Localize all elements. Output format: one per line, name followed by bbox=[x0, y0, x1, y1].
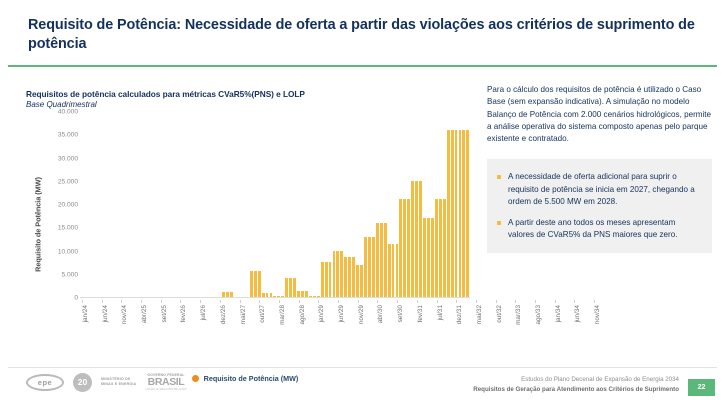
page-number-badge: 22 bbox=[688, 379, 715, 396]
bar bbox=[270, 293, 273, 297]
bar bbox=[333, 251, 336, 298]
bar bbox=[419, 181, 422, 297]
bar bbox=[368, 237, 371, 297]
bar bbox=[313, 296, 316, 297]
x-axis-tick-label: nov/29 bbox=[358, 305, 365, 324]
bar bbox=[392, 244, 395, 297]
x-axis-tick-label: abr/30 bbox=[377, 305, 384, 323]
bar bbox=[285, 278, 288, 297]
x-axis-tick-mark bbox=[515, 300, 516, 303]
bar bbox=[305, 291, 308, 297]
y-axis-tick-label: 15.000 bbox=[32, 225, 78, 232]
x-axis-tick-label: jan/34 bbox=[555, 305, 562, 322]
footer-logos: epe 20 MINISTÉRIO DE MINAS E ENERGIA GOV… bbox=[26, 368, 187, 396]
x-axis-tick-mark bbox=[456, 300, 457, 303]
x-axis-tick-label: set/30 bbox=[397, 305, 404, 322]
x-axis-tick-mark bbox=[279, 300, 280, 303]
x-axis-tick-mark bbox=[555, 300, 556, 303]
epe-logo-icon: epe bbox=[26, 374, 64, 391]
x-axis-tick-label: jan/24 bbox=[82, 305, 89, 322]
x-axis-tick-label: set/25 bbox=[161, 305, 168, 322]
x-axis-tick-label: jun/24 bbox=[102, 305, 109, 322]
y-axis-tick-label: 0 bbox=[32, 295, 78, 302]
bar bbox=[435, 199, 438, 297]
bar bbox=[356, 265, 359, 297]
x-axis-tick-mark bbox=[240, 300, 241, 303]
bar bbox=[447, 130, 450, 297]
x-axis-tick-label: abr/25 bbox=[141, 305, 148, 323]
footer-caption: Estudos do Plano Decenal de Expansão de … bbox=[473, 375, 679, 395]
footer-line-2: Requisitos de Geração para Atendimento a… bbox=[473, 385, 679, 395]
bar bbox=[399, 199, 402, 297]
bar bbox=[262, 293, 265, 297]
bar bbox=[293, 278, 296, 297]
bar bbox=[230, 292, 233, 297]
y-axis-tick-label: 40.000 bbox=[32, 109, 78, 116]
gov-brasil-logo-icon: GOVERNO FEDERAL BRASIL UNIÃO E RECONSTRU… bbox=[145, 371, 186, 393]
list-item: A necessidade de oferta adicional para s… bbox=[497, 171, 700, 207]
x-axis-tick-label: mai/27 bbox=[240, 305, 247, 324]
bar bbox=[340, 251, 343, 298]
bar bbox=[439, 199, 442, 297]
bar bbox=[297, 291, 300, 297]
anniversary-logo-icon: 20 bbox=[73, 373, 92, 392]
x-axis-tick-mark bbox=[437, 300, 438, 303]
x-axis-tick-label: mai/32 bbox=[476, 305, 483, 324]
x-axis-tick-label: jul/26 bbox=[200, 305, 207, 320]
bar-series bbox=[80, 111, 470, 297]
legend-label: Requisito de Potência (MW) bbox=[204, 374, 299, 383]
slide-header: Requisito de Potência: Necessidade de of… bbox=[28, 16, 696, 54]
bar bbox=[348, 257, 351, 297]
side-highlight-box: A necessidade de oferta adicional para s… bbox=[487, 159, 712, 253]
ministry-logo-icon: MINISTÉRIO DE MINAS E ENERGIA bbox=[101, 372, 136, 392]
bar bbox=[309, 296, 312, 297]
side-paragraph: Para o cálculo dos requisitos de potênci… bbox=[487, 84, 712, 145]
x-axis-tick-mark bbox=[299, 300, 300, 303]
bar bbox=[344, 257, 347, 297]
bar bbox=[289, 278, 292, 297]
list-item: A partir deste ano todos os meses aprese… bbox=[497, 217, 700, 241]
y-axis-tick-label: 20.000 bbox=[32, 202, 78, 209]
x-axis-tick-mark bbox=[358, 300, 359, 303]
bar bbox=[466, 130, 469, 297]
bar bbox=[352, 257, 355, 297]
bar bbox=[281, 296, 284, 297]
x-axis-tick-mark bbox=[496, 300, 497, 303]
x-axis-tick-label: ago/33 bbox=[535, 305, 542, 325]
bar bbox=[411, 181, 414, 297]
x-axis-tick-label: nov/24 bbox=[121, 305, 128, 324]
x-axis-tick-mark bbox=[377, 300, 378, 303]
bar bbox=[364, 237, 367, 297]
x-axis-tick-label: jan/29 bbox=[318, 305, 325, 322]
bar bbox=[273, 296, 276, 297]
bar bbox=[222, 292, 225, 297]
x-axis-tick-mark bbox=[259, 300, 260, 303]
bar bbox=[250, 271, 253, 297]
x-axis-tick-mark bbox=[102, 300, 103, 303]
bar bbox=[317, 296, 320, 297]
x-axis-tick-label: ago/28 bbox=[299, 305, 306, 325]
y-axis-tick-label: 10.000 bbox=[32, 248, 78, 255]
brasil-label: BRASIL bbox=[148, 377, 185, 388]
ministry-line-2: MINAS E ENERGIA bbox=[101, 382, 136, 387]
x-axis-tick-label: dez/31 bbox=[456, 305, 463, 324]
bars-plot bbox=[80, 112, 470, 298]
chart-title: Requisitos de potência calculados para m… bbox=[26, 89, 305, 99]
slide-left-edge bbox=[0, 0, 6, 400]
bar bbox=[266, 293, 269, 297]
bar bbox=[407, 199, 410, 297]
slide-root: Requisito de Potência: Necessidade de of… bbox=[0, 0, 725, 400]
bar bbox=[403, 199, 406, 297]
x-axis-tick-mark bbox=[180, 300, 181, 303]
bullet-text: A partir deste ano todos os meses aprese… bbox=[508, 217, 700, 241]
x-axis-tick-mark bbox=[318, 300, 319, 303]
x-axis-tick-mark bbox=[397, 300, 398, 303]
x-axis-tick-mark bbox=[417, 300, 418, 303]
y-axis-ticks: 05.00010.00015.00020.00025.00030.00035.0… bbox=[32, 112, 78, 298]
bar bbox=[372, 237, 375, 297]
x-axis-tick-label: nov/34 bbox=[594, 305, 601, 324]
x-axis-tick-label: mar/33 bbox=[515, 305, 522, 325]
x-axis-tick-label: jul/31 bbox=[437, 305, 444, 320]
bar bbox=[277, 296, 280, 297]
page-title: Requisito de Potência: Necessidade de of… bbox=[28, 16, 696, 54]
x-axis-tick-mark bbox=[220, 300, 221, 303]
bar bbox=[396, 244, 399, 297]
x-axis-tick-mark bbox=[161, 300, 162, 303]
bar bbox=[360, 265, 363, 297]
gov-sublabel: UNIÃO E RECONSTRUÇÃO bbox=[145, 387, 186, 391]
bar bbox=[415, 181, 418, 297]
x-axis-tick-label: mar/28 bbox=[279, 305, 286, 325]
x-axis-tick-label: out/27 bbox=[259, 305, 266, 323]
bar bbox=[384, 223, 387, 297]
bullet-text: A necessidade de oferta adicional para s… bbox=[508, 171, 700, 207]
bar bbox=[380, 223, 383, 297]
bar bbox=[443, 199, 446, 297]
bar bbox=[376, 223, 379, 297]
bar bbox=[329, 262, 332, 297]
x-axis-ticks: jan/24jun/24nov/24abr/25set/25fev/26jul/… bbox=[80, 300, 470, 356]
x-axis-tick-mark bbox=[121, 300, 122, 303]
legend-marker-icon bbox=[192, 375, 199, 382]
footer-line-1: Estudos do Plano Decenal de Expansão de … bbox=[473, 375, 679, 385]
x-axis-tick-mark bbox=[535, 300, 536, 303]
bar bbox=[336, 251, 339, 298]
bar bbox=[301, 291, 304, 297]
bar bbox=[226, 292, 229, 297]
x-axis-tick-mark bbox=[338, 300, 339, 303]
x-axis-tick-mark bbox=[574, 300, 575, 303]
x-axis-tick-mark bbox=[200, 300, 201, 303]
bar bbox=[455, 130, 458, 297]
bar bbox=[325, 262, 328, 297]
side-column: Para o cálculo dos requisitos de potênci… bbox=[487, 84, 712, 253]
y-axis-tick-label: 35.000 bbox=[32, 132, 78, 139]
chart-plot-area: Requisito de Potência (MW) 05.00010.0001… bbox=[12, 112, 478, 362]
bar bbox=[321, 262, 324, 297]
x-axis-tick-label: fev/26 bbox=[180, 305, 187, 322]
chart-panel: Requisitos de potência calculados para m… bbox=[12, 78, 478, 363]
bar bbox=[427, 218, 430, 297]
x-axis-tick-mark bbox=[82, 300, 83, 303]
x-axis-tick-mark bbox=[594, 300, 595, 303]
bar bbox=[254, 271, 257, 297]
x-axis-tick-label: jun/34 bbox=[574, 305, 581, 322]
bar bbox=[423, 218, 426, 297]
x-axis-tick-label: dez/26 bbox=[220, 305, 227, 324]
bar bbox=[388, 244, 391, 297]
y-axis-tick-label: 5.000 bbox=[32, 271, 78, 278]
y-axis-tick-label: 25.000 bbox=[32, 178, 78, 185]
bullet-square-icon bbox=[497, 175, 501, 179]
slide-right-edge bbox=[715, 0, 725, 400]
x-axis-tick-label: jun/29 bbox=[338, 305, 345, 322]
x-axis-tick-mark bbox=[476, 300, 477, 303]
bar bbox=[451, 130, 454, 297]
x-axis-tick-label: out/32 bbox=[496, 305, 503, 323]
bar bbox=[462, 130, 465, 297]
bar bbox=[258, 271, 261, 297]
y-axis-tick-label: 30.000 bbox=[32, 155, 78, 162]
title-divider bbox=[8, 65, 717, 67]
x-axis-tick-mark bbox=[141, 300, 142, 303]
x-axis-tick-label: fev/31 bbox=[417, 305, 424, 322]
bar bbox=[431, 218, 434, 297]
bar bbox=[459, 130, 462, 297]
bar-slot bbox=[466, 111, 470, 297]
bullet-square-icon bbox=[497, 221, 501, 225]
